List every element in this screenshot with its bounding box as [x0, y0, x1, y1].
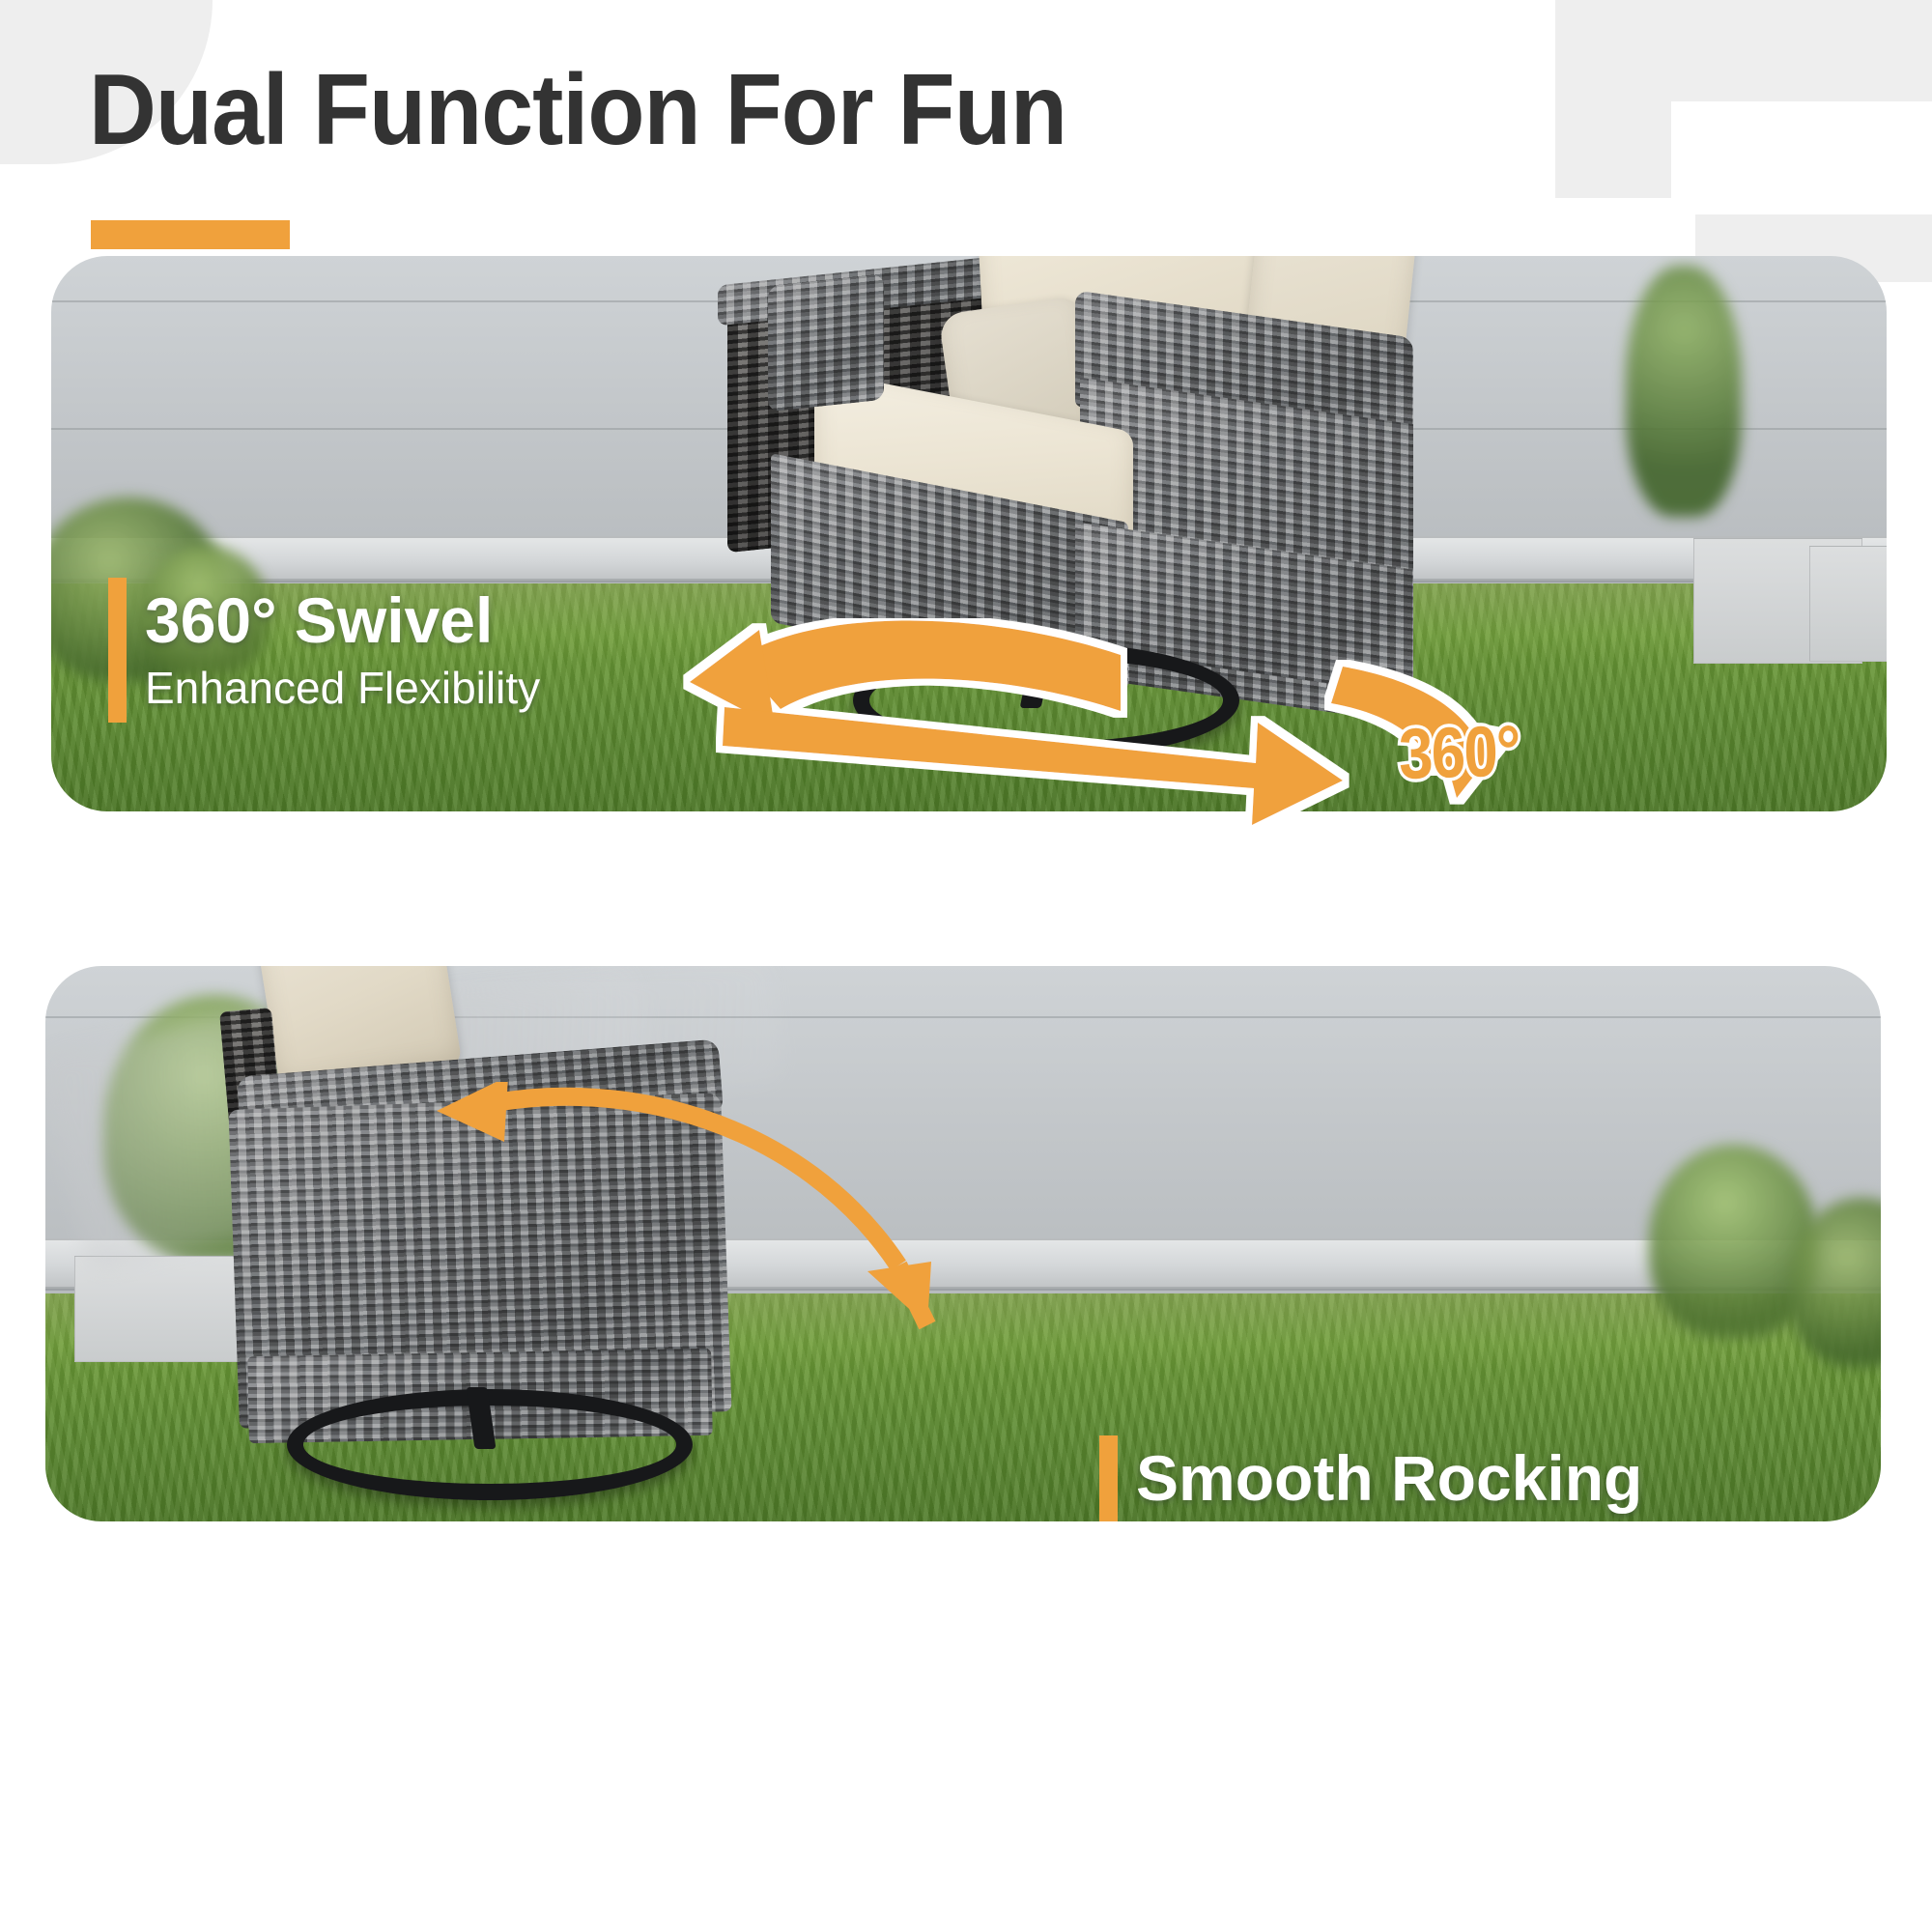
callout-subheading: Enhanced Flexibility	[145, 662, 540, 714]
scene-swivel	[51, 256, 1887, 811]
callout-subheading: Enjoy Extreme Comfort	[1136, 1520, 1642, 1522]
callout-accent-bar	[108, 578, 127, 723]
chair-arm-left	[768, 274, 884, 412]
callout-swivel: 360° Swivel Enhanced Flexibility	[108, 578, 540, 723]
paver-block-left	[74, 1256, 248, 1362]
callout-accent-bar	[1099, 1435, 1118, 1521]
page-title: Dual Function For Fun	[89, 60, 1066, 160]
callout-rocking: Smooth Rocking Enjoy Extreme Comfort	[1099, 1435, 1642, 1521]
title-underline-rule	[91, 220, 290, 249]
shrub-right	[1626, 266, 1742, 517]
badge-360-label: 360°	[1398, 715, 1520, 790]
callout-text-group: 360° Swivel Enhanced Flexibility	[127, 578, 540, 723]
decor-block-top-right-1	[1555, 0, 1932, 101]
panel-swivel: 360° Swivel Enhanced Flexibility	[51, 256, 1887, 811]
callout-heading: Smooth Rocking	[1136, 1444, 1642, 1513]
paver-block-right-2	[1809, 546, 1887, 662]
panel-rocking: Smooth Rocking Enjoy Extreme Comfort	[45, 966, 1881, 1521]
product-infographic: { "header": { "title": "Dual Function Fo…	[0, 0, 1932, 1932]
callout-text-group: Smooth Rocking Enjoy Extreme Comfort	[1118, 1435, 1642, 1521]
callout-heading: 360° Swivel	[145, 586, 540, 655]
decor-block-top-right-2	[1555, 101, 1671, 198]
